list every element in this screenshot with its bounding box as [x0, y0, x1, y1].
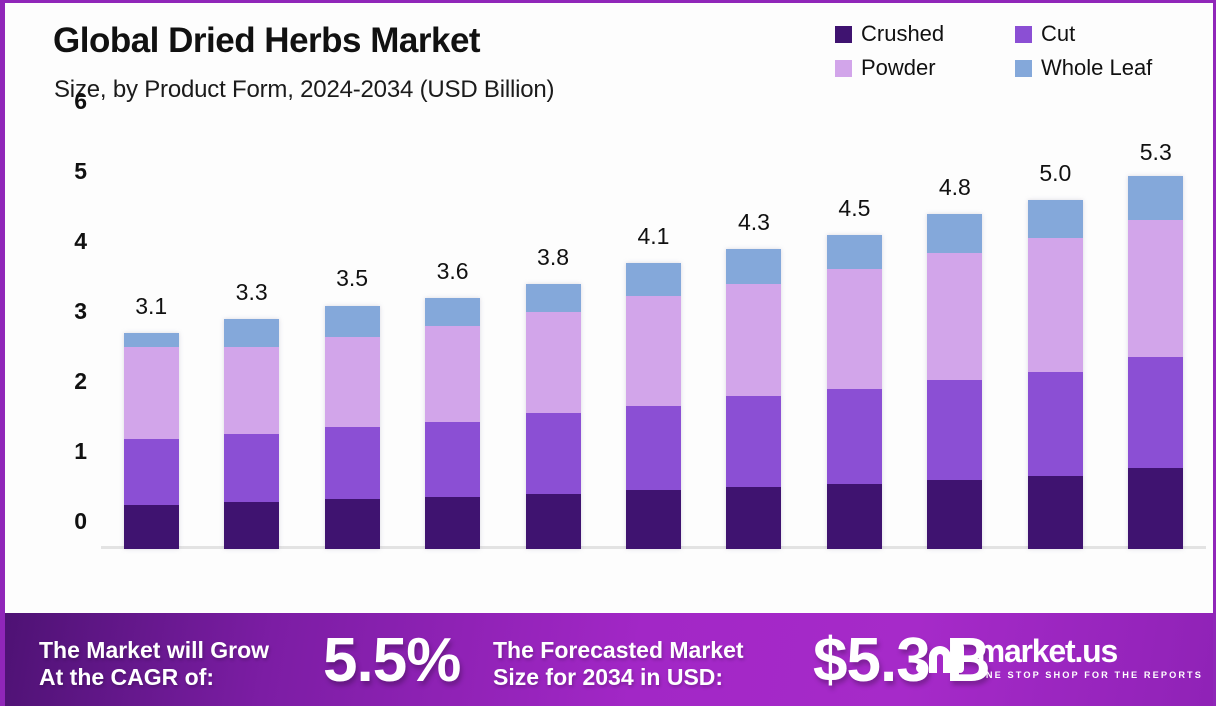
legend-item-cut[interactable]: Cut	[1015, 17, 1195, 51]
bar-segment-crushed[interactable]	[827, 484, 882, 549]
bar-2032[interactable]	[927, 214, 982, 549]
bar-segment-whole-leaf[interactable]	[425, 298, 480, 326]
bar-segment-cut[interactable]	[1028, 372, 1083, 476]
bar-segment-crushed[interactable]	[224, 502, 279, 549]
bar-segment-cut[interactable]	[626, 406, 681, 491]
bar-value-label-2030: 4.3	[709, 209, 799, 236]
bar-2031[interactable]	[827, 235, 882, 549]
bar-segment-powder[interactable]	[124, 347, 179, 439]
bar-2033[interactable]	[1028, 200, 1083, 549]
bar-segment-cut[interactable]	[124, 439, 179, 505]
bar-segment-whole-leaf[interactable]	[626, 263, 681, 296]
legend-item-label: Powder	[861, 55, 936, 81]
bar-segment-whole-leaf[interactable]	[827, 235, 882, 269]
bar-segment-powder[interactable]	[526, 312, 581, 414]
bar-segment-cut[interactable]	[927, 380, 982, 480]
bar-value-label-2024: 3.1	[106, 293, 196, 320]
legend-swatch-icon	[1015, 60, 1032, 77]
bar-segment-powder[interactable]	[827, 269, 882, 389]
bar-2025[interactable]	[224, 319, 279, 549]
legend-swatch-icon	[1015, 26, 1032, 43]
bar-segment-crushed[interactable]	[425, 497, 480, 550]
y-axis-tick-1: 1	[41, 438, 101, 465]
summary-banner: The Market will Grow At the CAGR of: 5.5…	[5, 613, 1216, 706]
bar-segment-whole-leaf[interactable]	[526, 284, 581, 312]
legend-item-label: Cut	[1041, 21, 1075, 47]
bar-value-label-2026: 3.5	[307, 265, 397, 292]
bar-segment-whole-leaf[interactable]	[927, 214, 982, 253]
logo-wordmark: market.us	[977, 635, 1203, 667]
legend-swatch-icon	[835, 60, 852, 77]
bar-2030[interactable]	[726, 249, 781, 549]
legend-item-whole-leaf[interactable]: Whole Leaf	[1015, 51, 1195, 85]
infographic-root: Global Dried Herbs Market Size, by Produ…	[0, 0, 1216, 706]
bar-segment-crushed[interactable]	[124, 505, 179, 549]
bar-segment-crushed[interactable]	[325, 499, 380, 549]
page-subtitle: Size, by Product Form, 2024-2034 (USD Bi…	[54, 76, 554, 104]
bar-segment-cut[interactable]	[1128, 357, 1183, 468]
bar-value-label-2032: 4.8	[910, 174, 1000, 201]
bar-segment-cut[interactable]	[827, 389, 882, 484]
bar-segment-cut[interactable]	[526, 413, 581, 494]
bar-segment-crushed[interactable]	[1128, 468, 1183, 549]
bar-segment-powder[interactable]	[726, 284, 781, 396]
cagr-value: 5.5%	[323, 625, 460, 696]
bar-segment-whole-leaf[interactable]	[124, 333, 179, 347]
chart-plot-area: 01234563.120243.320253.520263.620273.820…	[101, 129, 1206, 549]
bar-segment-whole-leaf[interactable]	[1128, 176, 1183, 220]
market-us-logo[interactable]: market.us ONE STOP SHOP FOR THE REPORTS	[915, 635, 1203, 680]
legend-item-label: Whole Leaf	[1041, 55, 1152, 81]
legend-swatch-icon	[835, 26, 852, 43]
bar-segment-cut[interactable]	[726, 396, 781, 487]
bar-segment-powder[interactable]	[1128, 220, 1183, 357]
forecast-caption: The Forecasted Market Size for 2034 in U…	[493, 637, 813, 691]
bar-segment-powder[interactable]	[626, 296, 681, 405]
bar-segment-whole-leaf[interactable]	[1028, 200, 1083, 239]
bar-segment-cut[interactable]	[224, 434, 279, 503]
bar-segment-whole-leaf[interactable]	[325, 306, 380, 337]
bar-segment-crushed[interactable]	[927, 480, 982, 549]
bar-segment-crushed[interactable]	[526, 494, 581, 549]
bar-value-label-2033: 5.0	[1010, 160, 1100, 187]
legend-item-crushed[interactable]: Crushed	[835, 17, 1015, 51]
bar-chart-logo-icon	[915, 635, 967, 680]
bar-2034[interactable]	[1128, 176, 1183, 549]
bar-2029[interactable]	[626, 263, 681, 549]
y-axis-tick-2: 2	[41, 368, 101, 395]
legend-item-powder[interactable]: Powder	[835, 51, 1015, 85]
legend-item-label: Crushed	[861, 21, 944, 47]
chart-legend: CrushedCutPowderWhole Leaf	[835, 17, 1195, 85]
bar-segment-powder[interactable]	[325, 337, 380, 427]
bar-segment-whole-leaf[interactable]	[726, 249, 781, 285]
bar-2024[interactable]	[124, 333, 179, 549]
bar-segment-crushed[interactable]	[626, 490, 681, 549]
y-axis-tick-0: 0	[41, 508, 101, 535]
bar-value-label-2025: 3.3	[207, 279, 297, 306]
bar-segment-powder[interactable]	[1028, 238, 1083, 372]
bar-value-label-2029: 4.1	[609, 223, 699, 250]
bar-segment-crushed[interactable]	[726, 487, 781, 549]
bar-segment-whole-leaf[interactable]	[224, 319, 279, 346]
bar-segment-crushed[interactable]	[1028, 476, 1083, 550]
bar-value-label-2031: 4.5	[809, 195, 899, 222]
bar-2028[interactable]	[526, 284, 581, 549]
bar-segment-cut[interactable]	[325, 427, 380, 499]
page-title: Global Dried Herbs Market	[53, 21, 480, 61]
bar-value-label-2034: 5.3	[1111, 139, 1201, 166]
bar-value-label-2028: 3.8	[508, 244, 598, 271]
y-axis-tick-4: 4	[41, 228, 101, 255]
y-axis-tick-5: 5	[41, 158, 101, 185]
bar-value-label-2027: 3.6	[408, 258, 498, 285]
cagr-caption: The Market will Grow At the CAGR of:	[39, 637, 319, 691]
bar-segment-powder[interactable]	[425, 326, 480, 422]
bar-2026[interactable]	[325, 306, 380, 549]
bar-segment-powder[interactable]	[927, 253, 982, 380]
logo-tagline: ONE STOP SHOP FOR THE REPORTS	[977, 670, 1203, 680]
bar-2027[interactable]	[425, 298, 480, 549]
bar-segment-powder[interactable]	[224, 347, 279, 434]
bar-segment-cut[interactable]	[425, 422, 480, 497]
y-axis-tick-3: 3	[41, 298, 101, 325]
y-axis-tick-6: 6	[41, 88, 101, 115]
